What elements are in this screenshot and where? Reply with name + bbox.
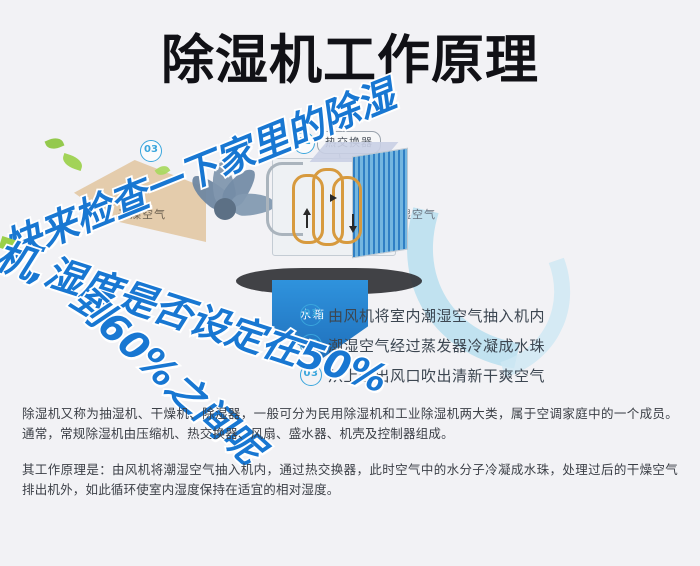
step-item: 01 由风机将室内潮湿空气抽入机内	[300, 300, 692, 330]
copper-coil	[332, 176, 362, 244]
diagram-badge-03: 03	[140, 140, 162, 162]
working-principle-diagram: 干燥空气 03 02 01 热交换器 潮湿空气	[0, 118, 700, 403]
flow-arrow-right-icon	[330, 194, 337, 202]
leaf-icon	[61, 153, 85, 171]
step-text: 从上部出风口吹出清新干爽空气	[328, 365, 545, 386]
article-paragraph-1: 除湿机又称为抽湿机、干燥机、除湿器，一般可分为民用除湿机和工业除湿机两大类，属于…	[22, 404, 678, 444]
poster-root: 除湿机工作原理 干燥空气 03 02 01 热交换器 潮湿空气	[0, 0, 700, 566]
page-title: 除湿机工作原理	[0, 30, 700, 92]
article-body: 除湿机又称为抽湿机、干燥机、除湿器，一般可分为民用除湿机和工业除湿机两大类，属于…	[0, 404, 700, 500]
steps-list: 01 由风机将室内潮湿空气抽入机内 02 潮湿空气经过蒸发器冷凝成水珠 03 从…	[300, 300, 692, 390]
step-number: 03	[300, 364, 322, 386]
page-title-text: 除湿机工作原理	[161, 30, 539, 92]
diagram-badge-02: 02	[293, 132, 315, 154]
step-item: 02 潮湿空气经过蒸发器冷凝成水珠	[300, 330, 692, 360]
step-text: 由风机将室内潮湿空气抽入机内	[328, 305, 545, 326]
fan-hub	[214, 198, 236, 220]
flow-arrow-up-icon	[303, 208, 311, 215]
article-paragraph-2: 其工作原理是：由风机将潮湿空气抽入机内，通过热交换器，此时空气中的水分子冷凝成水…	[22, 460, 678, 500]
dry-air-label: 干燥空气	[118, 206, 166, 222]
step-item: 03 从上部出风口吹出清新干爽空气	[300, 360, 692, 390]
fan-icon	[184, 154, 268, 246]
leaf-icon	[45, 135, 65, 152]
step-number: 02	[300, 334, 322, 356]
step-number: 01	[300, 304, 322, 326]
step-text: 潮湿空气经过蒸发器冷凝成水珠	[328, 335, 545, 356]
flow-arrow-down-icon	[349, 226, 357, 233]
flow-arrow-shaft	[306, 214, 308, 228]
